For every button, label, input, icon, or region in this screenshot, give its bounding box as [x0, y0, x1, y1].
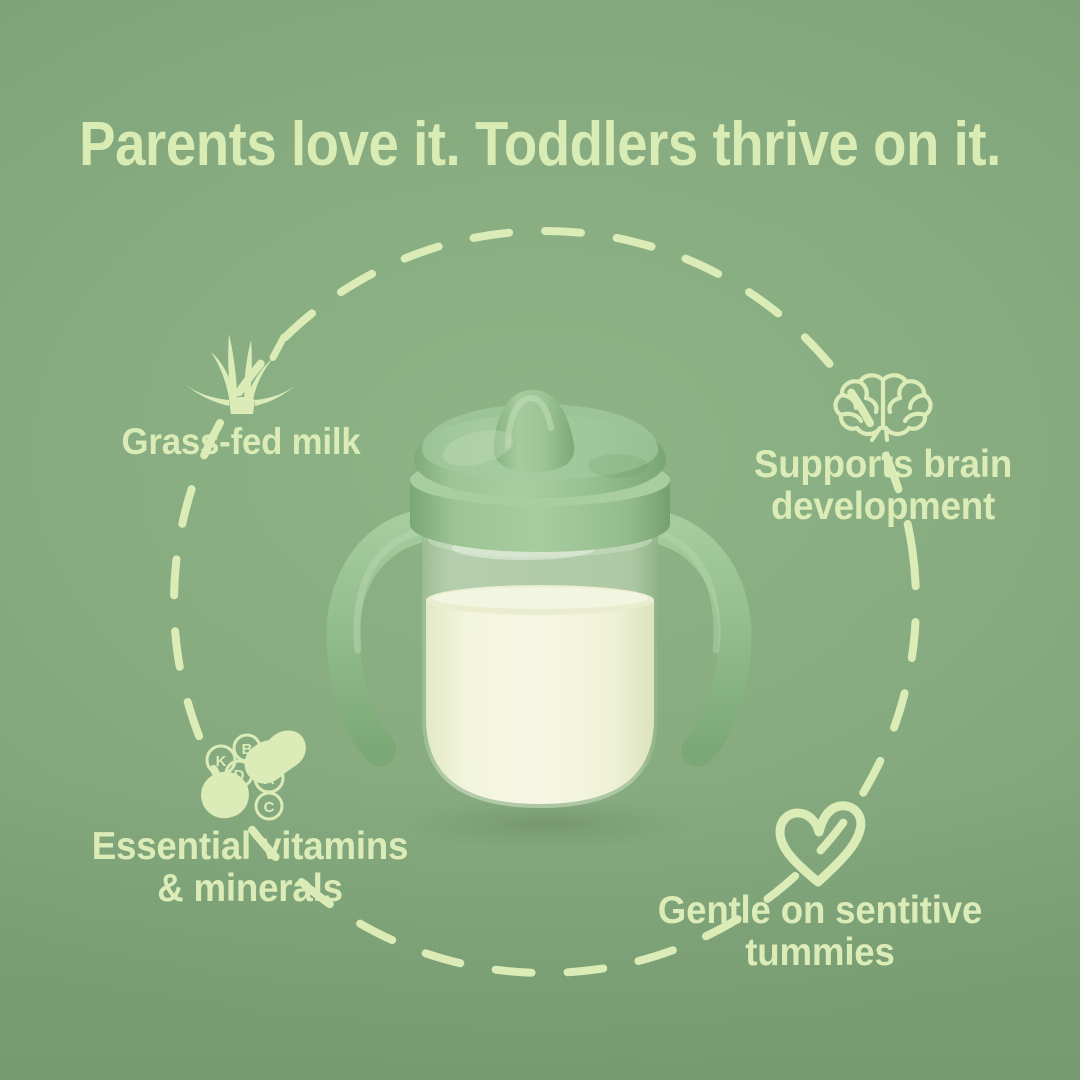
tablet-letter-a: A [264, 771, 275, 788]
tablet-letter-k: K [216, 753, 227, 770]
tablet-letter-b: B [242, 741, 253, 758]
tablet-letter-d: D [234, 767, 245, 784]
poster-canvas: Parents love it. Toddlers thrive on it. [0, 0, 1080, 1080]
feature-label-gentle-tummies: Gentle on sentitive tummies [632, 890, 1008, 974]
grass-icon [76, 330, 406, 416]
feature-grass-fed: Grass-fed milk [76, 330, 406, 462]
tablet-letter-c: C [264, 799, 275, 816]
cup-milk [426, 600, 654, 804]
feature-label-brain-development: Supports brain development [728, 444, 1038, 528]
feature-vitamins-minerals: K B D A C Essential vitamins & minerals [40, 728, 460, 910]
heart-icon [620, 800, 1020, 886]
feature-gentle-tummies: Gentle on sentitive tummies [620, 800, 1020, 974]
vitamins-pills-icon: K B D A C [40, 728, 460, 820]
feature-brain-development: Supports brain development [718, 370, 1048, 528]
page-title: Parents love it. Toddlers thrive on it. [65, 112, 1015, 177]
feature-label-vitamins-minerals: Essential vitamins & minerals [53, 826, 448, 910]
brain-icon [718, 370, 1048, 440]
feature-label-grass-fed: Grass-fed milk [86, 422, 396, 462]
